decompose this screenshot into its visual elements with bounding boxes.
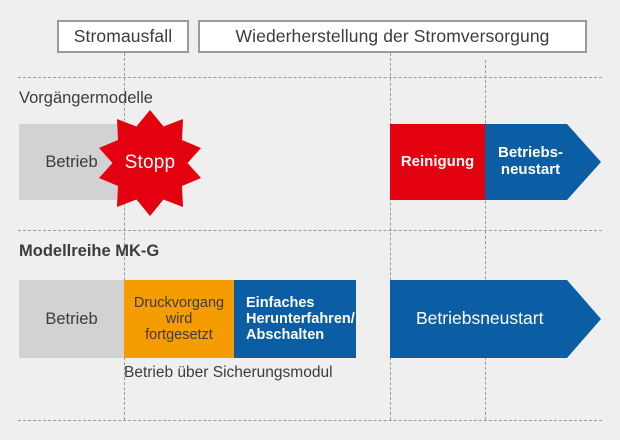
guide-line-vertical-cleaning [485,60,486,420]
row-label-modellreihe-mkg: Modellreihe MK-G [19,242,159,261]
starburst-stopp: Stopp [97,110,203,216]
block-legacy-reinigung: Reinigung [390,124,485,200]
arrow-head-legacy-restart [567,124,601,200]
phase-label-wiederherstellung: Wiederherstellung der Stromversorgung [198,20,587,53]
block-series-druckvorgang-label: Druckvorgang wird fortgesetzt [130,295,228,344]
guide-line-vertical-restore [390,53,391,420]
starburst-stopp-label: Stopp [97,110,203,216]
arrow-head-series-restart [567,280,601,358]
diagram-canvas: Stromausfall Wiederherstellung der Strom… [0,0,620,440]
block-series-betrieb-label: Betrieb [41,310,101,328]
block-series-herunterfahren: Einfaches Herunterfahren/ Abschalten [234,280,356,358]
guide-line-horizontal-middle [18,230,602,231]
block-series-betrieb: Betrieb [19,280,124,358]
block-series-betriebsneustart: Betriebsneustart [390,280,567,358]
block-legacy-betriebsneustart-label: Betriebs- neustart [494,145,567,179]
block-legacy-reinigung-label: Reinigung [397,154,478,171]
block-legacy-betrieb-label: Betrieb [41,153,101,171]
guide-line-horizontal-bottom [18,420,602,421]
phase-label-stromausfall: Stromausfall [57,20,189,53]
block-series-herunterfahren-label: Einfaches Herunterfahren/ Abschalten [242,295,359,344]
block-legacy-betriebsneustart: Betriebs- neustart [485,124,567,200]
row-label-vorgaengermodelle: Vorgängermodelle [19,89,153,108]
guide-line-horizontal-top [18,77,602,78]
block-series-druckvorgang: Druckvorgang wird fortgesetzt [124,280,234,358]
caption-betrieb-ueber-sicherungsmodul: Betrieb über Sicherungsmodul [124,364,333,382]
block-series-betriebsneustart-label: Betriebsneustart [412,309,547,329]
